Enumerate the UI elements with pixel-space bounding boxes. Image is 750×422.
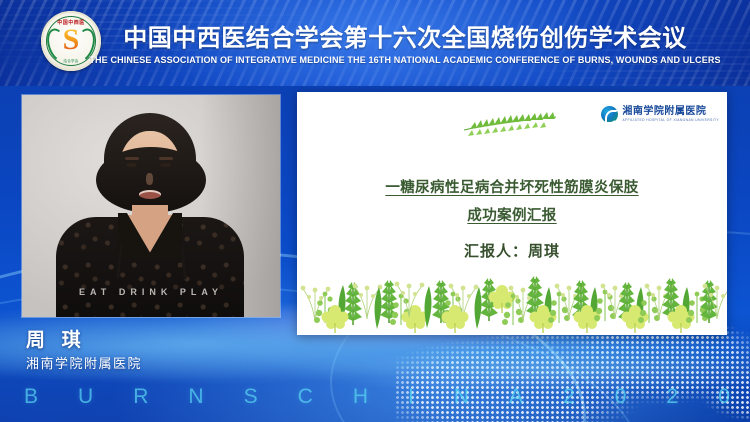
hospital-mark-icon bbox=[601, 106, 618, 123]
shirt-text-eat: EAT bbox=[79, 287, 111, 297]
shirt-graphic-text: EAT DRINK PLAY bbox=[22, 287, 280, 297]
speaker-eyebrow-right bbox=[159, 157, 173, 160]
hospital-logo: 湘南学院附属医院 AFFILIATED HOSPITAL OF XIANGNAN… bbox=[601, 106, 719, 123]
speaker-eye-right bbox=[160, 163, 171, 167]
presentation-slide[interactable]: 湘南学院附属医院 AFFILIATED HOSPITAL OF XIANGNAN… bbox=[297, 92, 727, 335]
wordmark-letter: A bbox=[509, 385, 523, 409]
wordmark-letter: C bbox=[298, 385, 313, 409]
speaker-name: 周 琪 bbox=[26, 325, 86, 352]
shirt-text-drink: DRINK bbox=[119, 287, 173, 297]
wordmark-letter: U bbox=[78, 385, 93, 409]
conference-title-cn: 中国中西医结合学会第十六次全国烧伤创伤学术会议 bbox=[0, 18, 750, 53]
botanical-border-decoration bbox=[297, 243, 727, 335]
wordmark-letter: 0 bbox=[615, 385, 627, 409]
speaker-mouth bbox=[139, 190, 161, 199]
speaker-eye-left bbox=[126, 163, 137, 167]
slide-title-line2: 成功案例汇报 bbox=[297, 204, 727, 225]
leaf-sprig-decoration bbox=[460, 110, 560, 136]
conference-broadcast-screen: 中国中西医 S 结合学会 中国中西医结合学会第十六次全国烧伤创伤学术会议 THE… bbox=[0, 0, 750, 422]
event-wordmark: BURNSCHINA2020 bbox=[24, 382, 730, 412]
speaker-video-feed[interactable]: EAT DRINK PLAY bbox=[22, 95, 280, 317]
wordmark-letter: B bbox=[24, 385, 38, 409]
hospital-name-en: AFFILIATED HOSPITAL OF XIANGNAN UNIVERSI… bbox=[622, 119, 719, 122]
conference-header-banner: 中国中西医 S 结合学会 中国中西医结合学会第十六次全国烧伤创伤学术会议 THE… bbox=[0, 0, 750, 86]
wordmark-letter: N bbox=[454, 385, 469, 409]
slide-title-line1: 一糖尿病性足病合并坏死性筋膜炎保肢 bbox=[297, 176, 727, 197]
wordmark-letter: H bbox=[353, 385, 368, 409]
wordmark-letter: 2 bbox=[666, 385, 678, 409]
wordmark-letter: 0 bbox=[718, 385, 730, 409]
shirt-text-play: PLAY bbox=[180, 287, 223, 297]
speaker-organization: 湘南学院附属医院 bbox=[26, 353, 142, 372]
speaker-nose bbox=[146, 173, 153, 185]
wordmark-letter: N bbox=[188, 385, 203, 409]
wordmark-letter: S bbox=[244, 385, 258, 409]
wordmark-letter: I bbox=[408, 385, 414, 409]
wordmark-letter: 2 bbox=[563, 385, 575, 409]
hospital-name-cn: 湘南学院附属医院 bbox=[622, 107, 719, 117]
conference-title-en: THE CHINESE ASSOCIATION OF INTEGRATIVE M… bbox=[0, 55, 750, 65]
wordmark-letter: R bbox=[133, 385, 148, 409]
speaker-eyebrow-left bbox=[125, 157, 139, 160]
